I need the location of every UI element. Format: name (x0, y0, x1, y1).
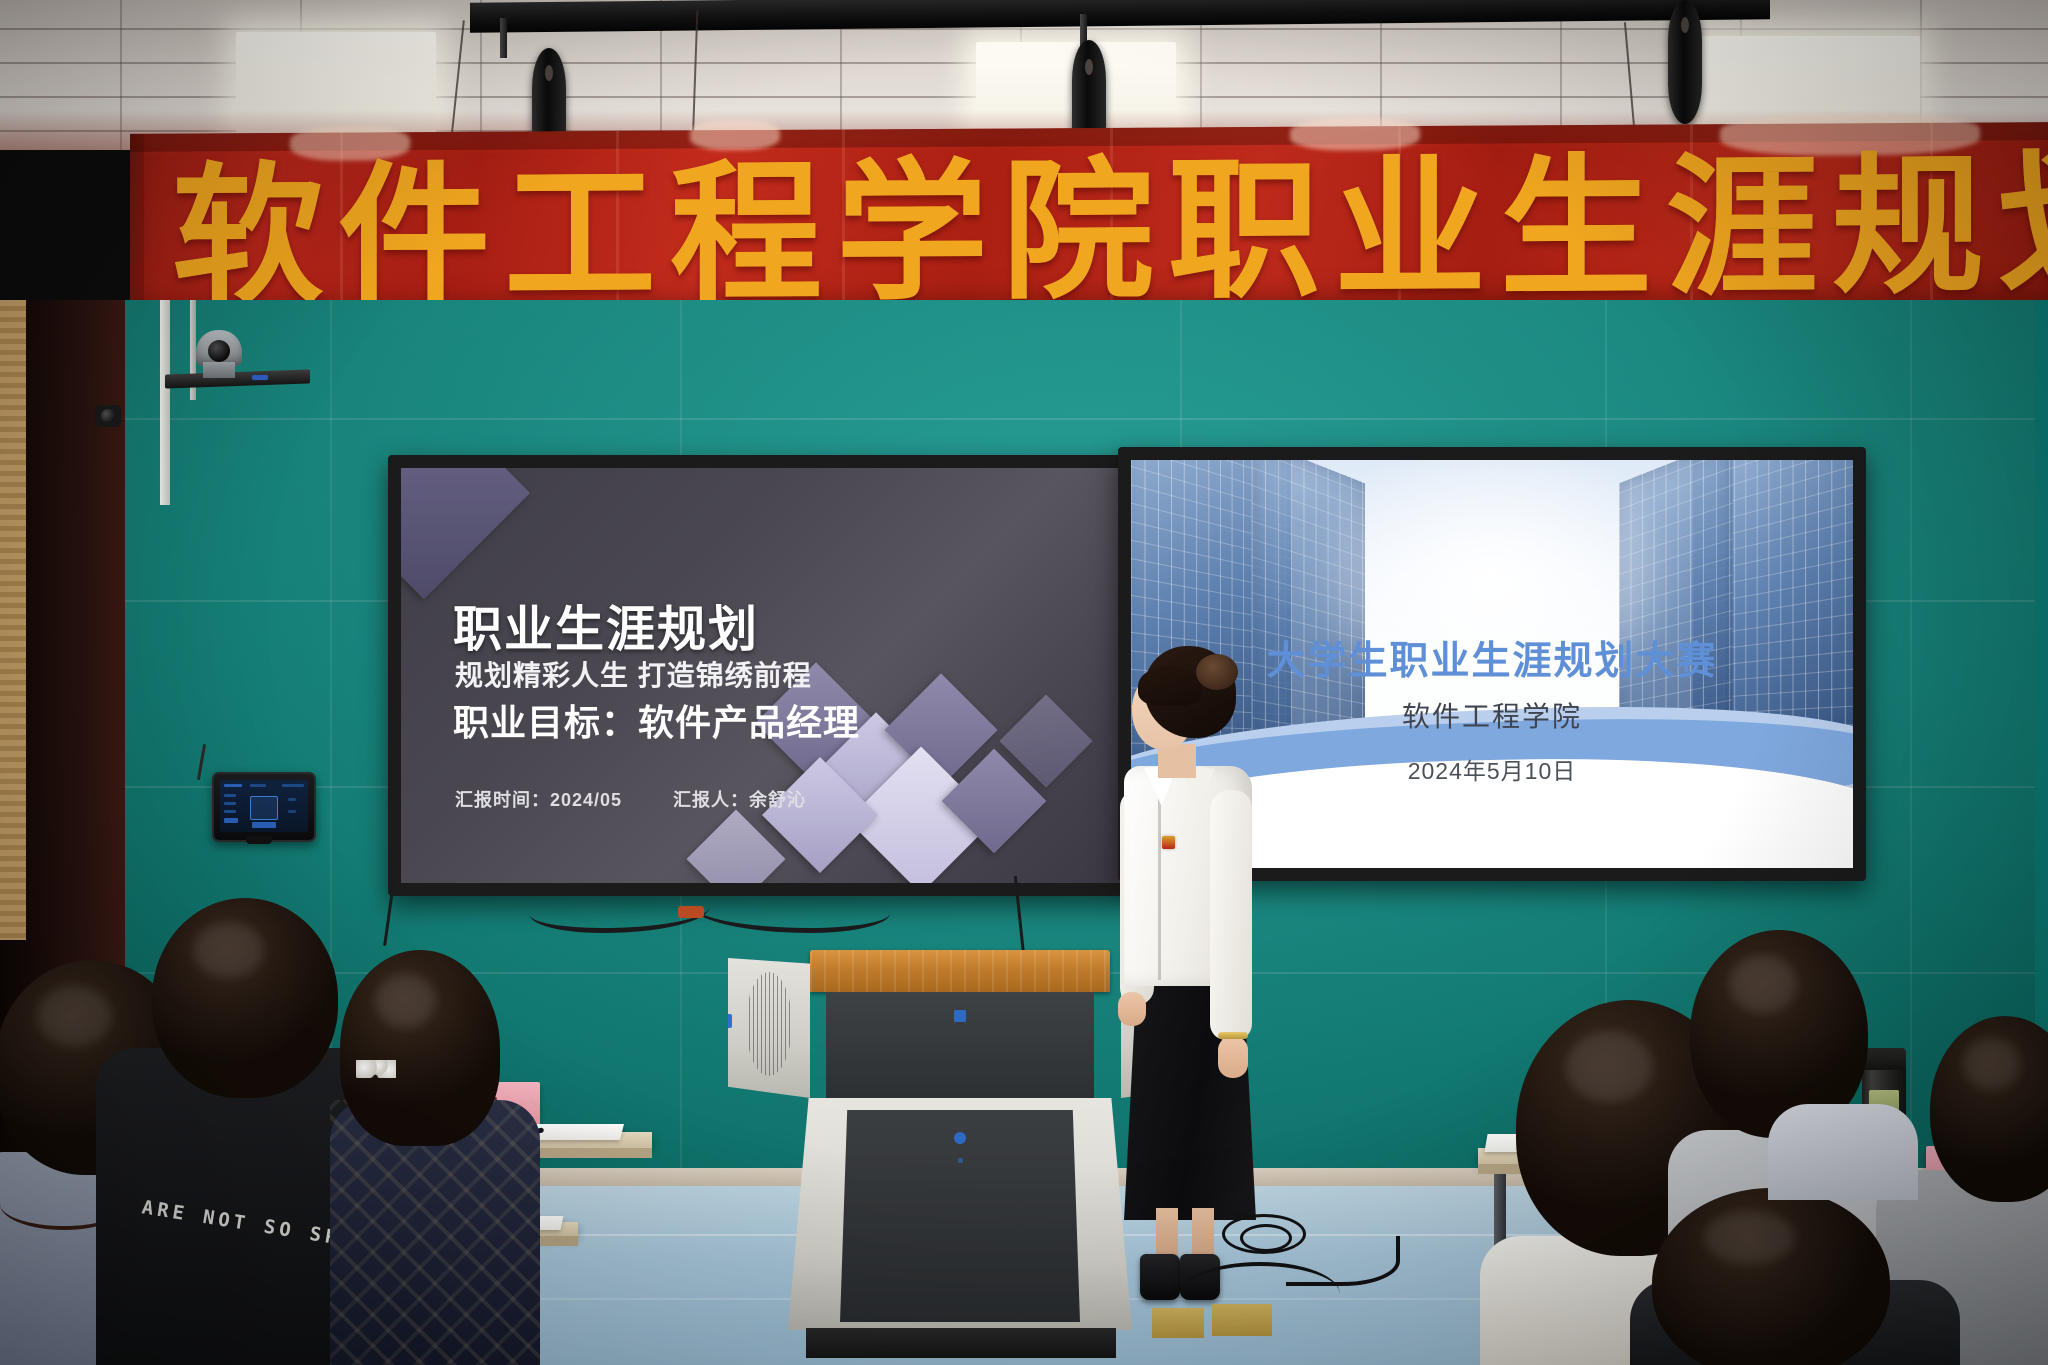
camera-lens-icon (208, 340, 230, 362)
sky-glow (1304, 447, 1679, 729)
cable-connector (678, 906, 704, 918)
presenter-bracelet (1218, 1032, 1248, 1039)
slide-left-goal: 职业目标：软件产品经理 (453, 694, 860, 746)
camera-status-led (252, 375, 268, 380)
event-banner: 软件工程学院职业生涯规划大赛 (130, 122, 2048, 324)
lectern-plinth (806, 1328, 1116, 1358)
lectern-front-panel (840, 1110, 1080, 1322)
slide-left-subtitle: 规划精彩人生 打造锦绣前程 (455, 654, 812, 694)
sprinkler-head (318, 20, 327, 42)
control-panel-stand (246, 836, 272, 844)
presenter-hand (1218, 1036, 1248, 1078)
floor-tape (1152, 1308, 1204, 1338)
wood-wall-strip (0, 300, 26, 940)
presenter (1118, 640, 1308, 1300)
thermos-cap (1862, 1048, 1906, 1070)
hanging-speaker (1668, 0, 1702, 124)
banner-text: 软件工程学院职业生涯规划大赛 (172, 135, 2048, 327)
slide-left-presenter: 汇报人：余舒沁 (673, 786, 806, 812)
indicator-icon (958, 1158, 963, 1163)
audience-head (152, 898, 338, 1098)
speaker-grille-icon (746, 972, 792, 1076)
lock-icon[interactable] (954, 1132, 966, 1144)
presenter-badge-pin (1162, 836, 1175, 849)
secondary-camera-lens-icon (101, 409, 115, 423)
camera-mount (203, 362, 235, 378)
floor-tape (1212, 1304, 1272, 1336)
slide-left-date: 汇报时间：2024/05 (455, 786, 622, 812)
floor-cable-coil (1240, 1224, 1292, 1252)
presenter-hair-bun (1196, 654, 1238, 690)
scene-root: 软件工程学院职业生涯规划大赛 (0, 0, 2048, 1365)
hair-clip (356, 1060, 396, 1078)
presenter-boot (1140, 1254, 1180, 1300)
presenter-shirt-placket (1158, 790, 1161, 980)
presenter-hand (1118, 992, 1146, 1026)
presenter-arm-right (1210, 790, 1252, 1040)
control-panel-screen[interactable] (220, 780, 308, 832)
slide-left-title: 职业生涯规划 (453, 590, 759, 661)
display-left[interactable]: 职业生涯规划 规划精彩人生 打造锦绣前程 职业目标：软件产品经理 汇报时间：20… (388, 455, 1149, 896)
wall-control-touchscreen[interactable] (212, 772, 316, 842)
lectern-speaker-left (728, 958, 810, 1098)
power-icon[interactable] (954, 1010, 966, 1022)
slide-left: 职业生涯规划 规划精彩人生 打造锦绣前程 职业目标：软件产品经理 汇报时间：20… (401, 468, 1136, 883)
lectern-upper-panel (826, 992, 1094, 1102)
sprinkler-head (1836, 22, 1845, 44)
presenter-fringe (1138, 666, 1202, 706)
audience-torso (1768, 1104, 1918, 1200)
audience-head (340, 950, 500, 1146)
support-pole (160, 300, 170, 505)
lectern-wood-top (810, 950, 1110, 992)
audience-head (1652, 1188, 1890, 1365)
